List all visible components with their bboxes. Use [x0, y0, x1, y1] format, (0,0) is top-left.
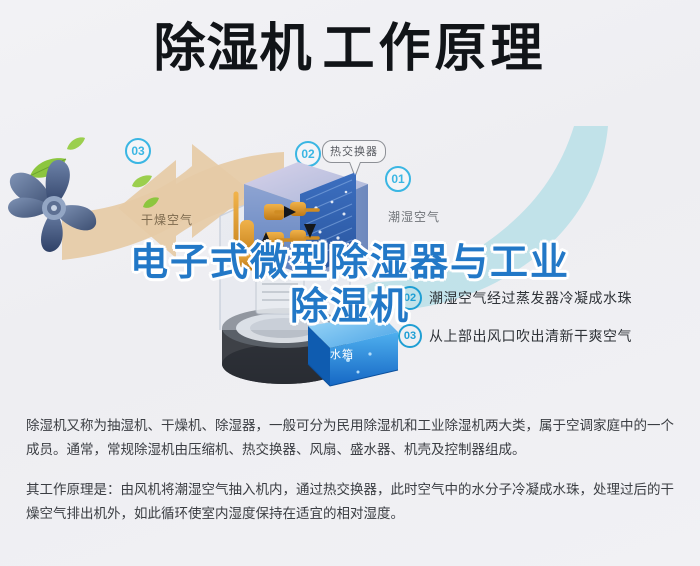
infographic-page: 除湿机工作原理 03 02 01 — [0, 0, 700, 566]
legend-badge: 03 — [398, 324, 422, 348]
body-copy: 除湿机又称为抽湿机、干燥机、除湿器，一般可分为民用除湿机和工业除湿机两大类，属于… — [26, 414, 678, 526]
page-header: 除湿机工作原理 — [0, 18, 700, 80]
leaf-icon — [131, 174, 153, 190]
legend-row: 02 潮湿空气经过蒸发器冷凝成水珠 — [398, 286, 698, 310]
legend-text: 从上部出风口吹出清新干爽空气 — [429, 326, 632, 346]
paragraph-1: 除湿机又称为抽湿机、干燥机、除湿器，一般可分为民用除湿机和工业除湿机两大类，属于… — [26, 414, 678, 462]
fan-blades-icon — [0, 154, 108, 258]
leaf-icon — [142, 196, 160, 210]
badge-03: 03 — [125, 138, 151, 164]
page-title-part1: 除湿机 — [153, 19, 312, 79]
leaf-icon — [66, 136, 86, 152]
diagram-stage: 03 02 01 热交换器 干燥空气 潮湿空气 — [0, 118, 700, 400]
page-title-part2: 工作原理 — [323, 19, 547, 79]
legend-badge: 02 — [398, 286, 422, 310]
label-water-tank: 水箱 — [330, 346, 354, 362]
paragraph-2: 其工作原理是：由风机将潮湿空气抽入机内，通过热交换器，此时空气中的水分子冷凝成水… — [26, 478, 678, 526]
legend-list: 02 潮湿空气经过蒸发器冷凝成水珠 03 从上部出风口吹出清新干爽空气 — [398, 286, 698, 362]
legend-row: 03 从上部出风口吹出清新干爽空气 — [398, 324, 698, 348]
page-title: 除湿机工作原理 — [153, 18, 546, 80]
legend-text: 潮湿空气经过蒸发器冷凝成水珠 — [429, 288, 632, 308]
